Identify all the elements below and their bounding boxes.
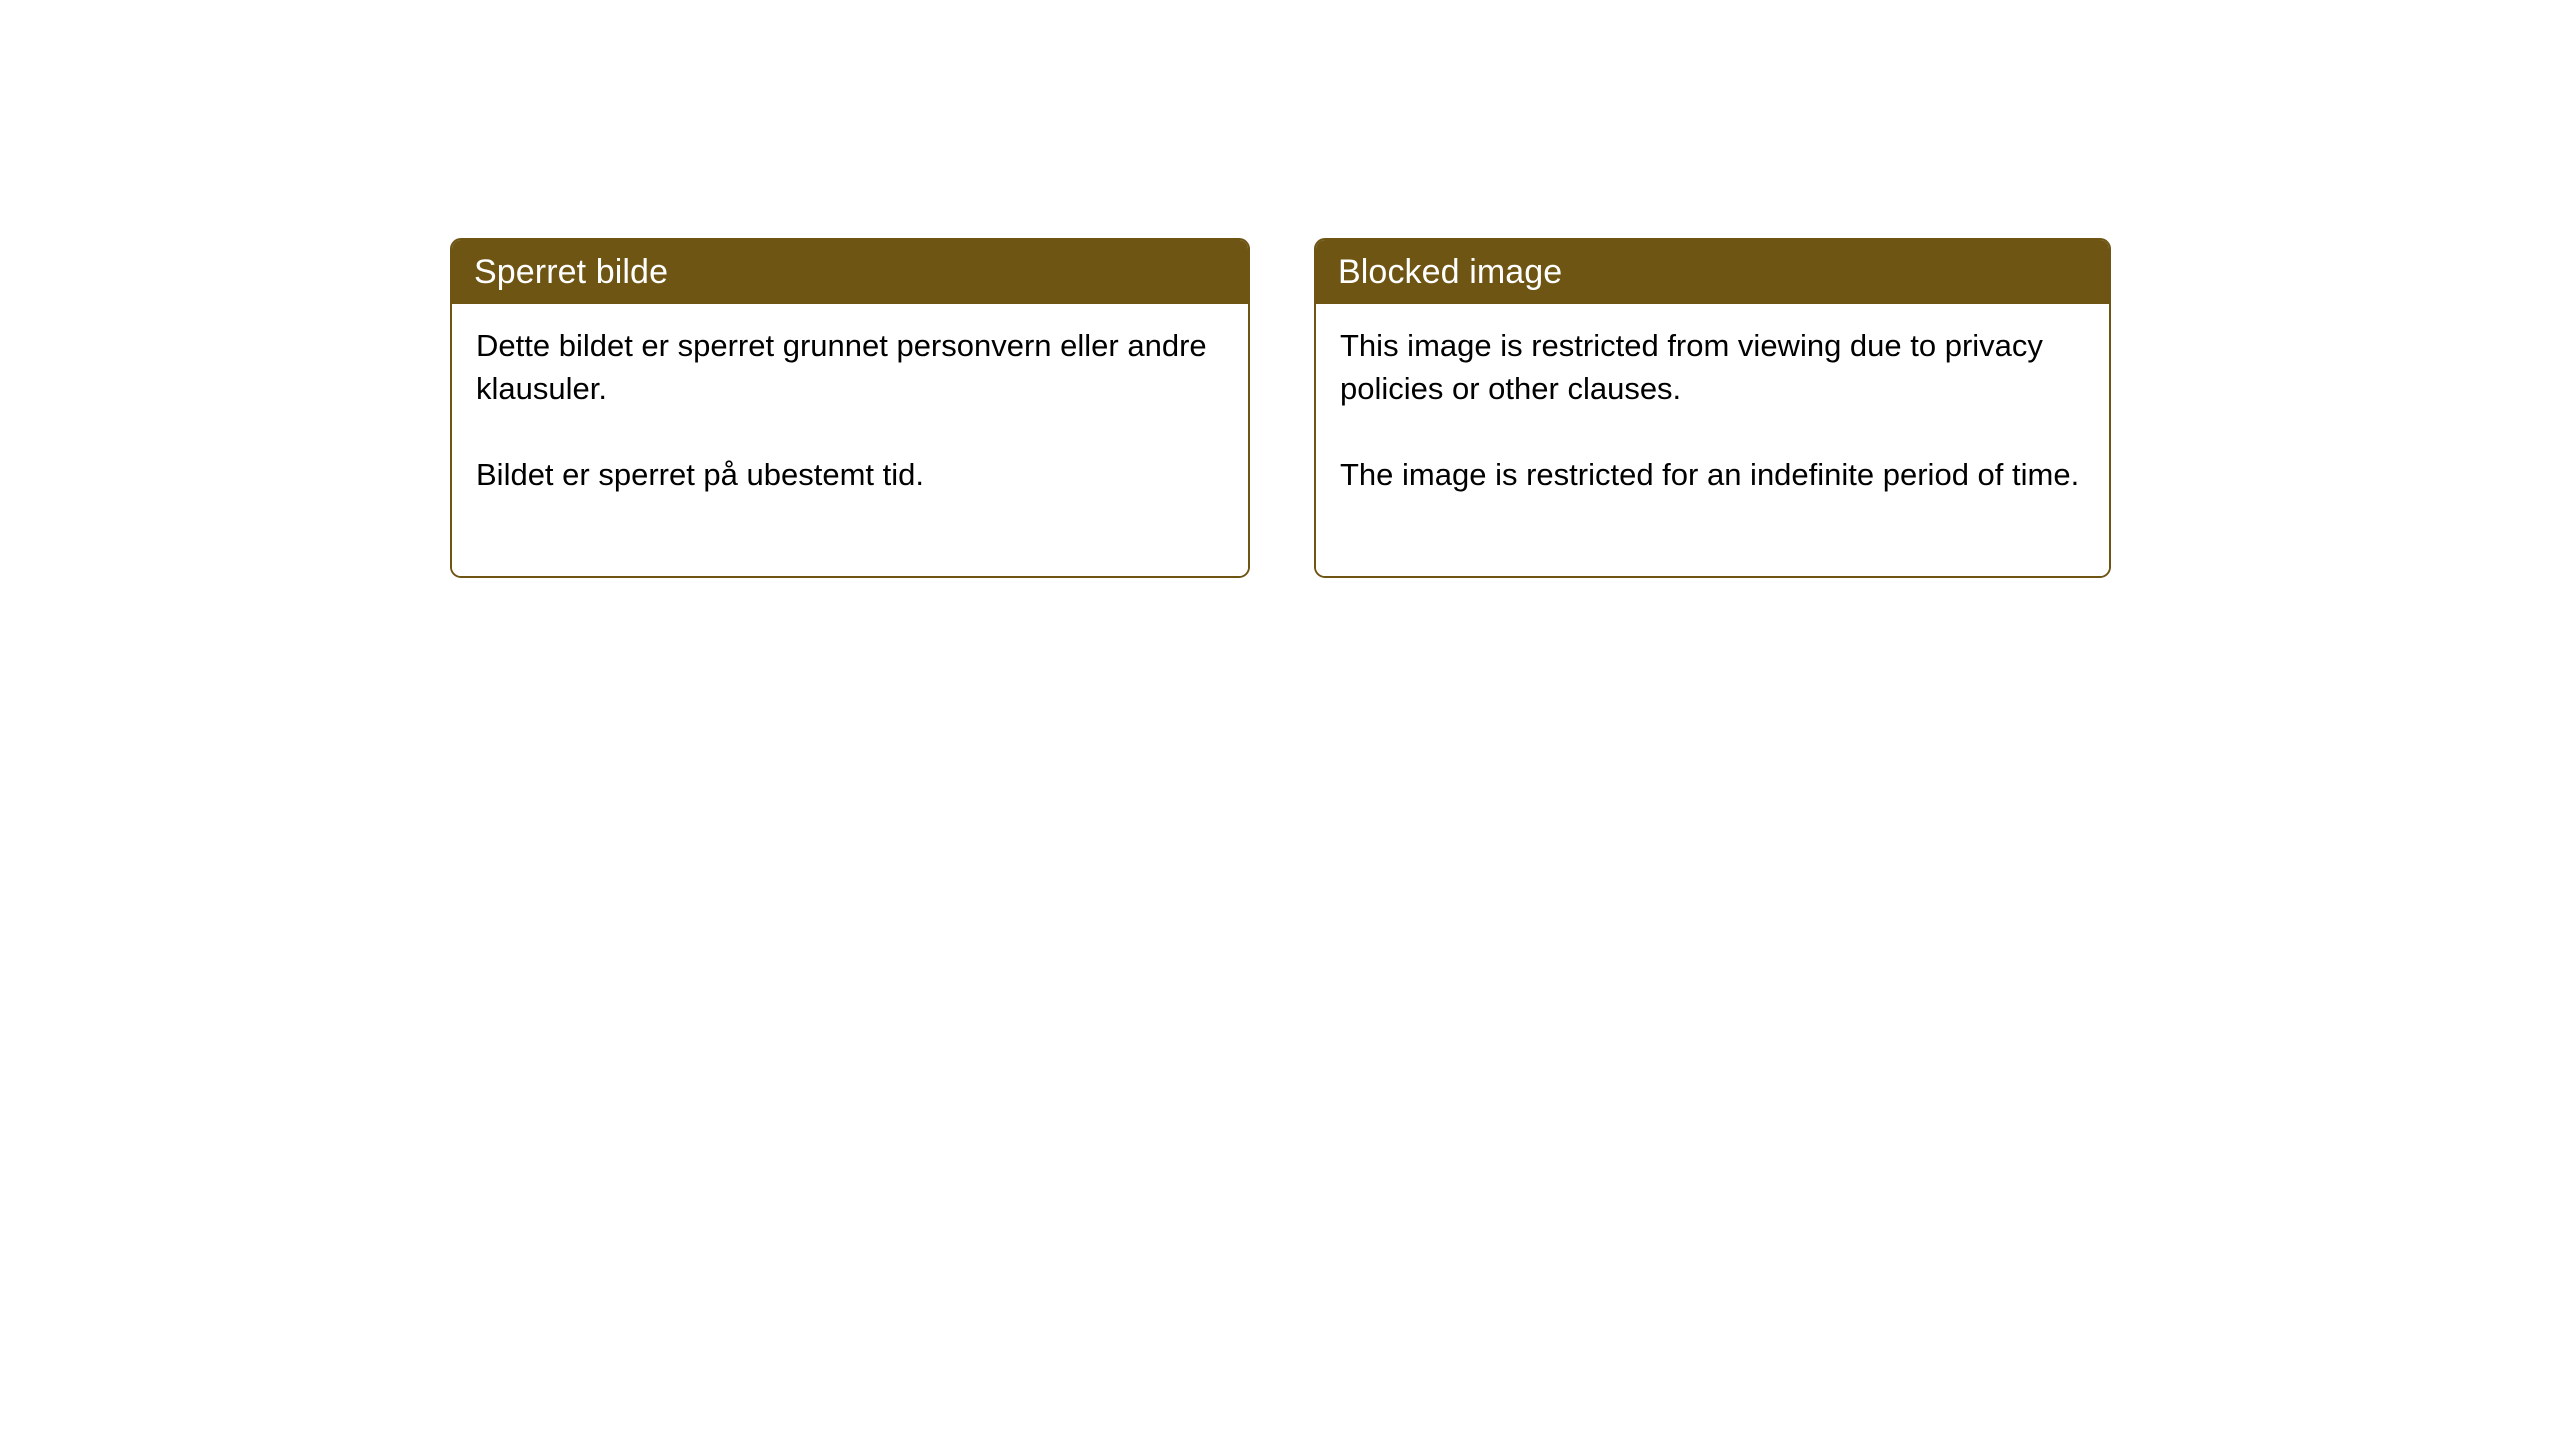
- card-body-norwegian: Dette bildet er sperret grunnet personve…: [452, 304, 1248, 576]
- card-paragraph-primary-english: This image is restricted from viewing du…: [1340, 324, 2083, 410]
- card-header-english: Blocked image: [1316, 240, 2109, 304]
- blocked-image-card-norwegian: Sperret bilde Dette bildet er sperret gr…: [450, 238, 1250, 578]
- card-title-norwegian: Sperret bilde: [474, 255, 668, 289]
- card-paragraph-secondary-english: The image is restricted for an indefinit…: [1340, 453, 2083, 496]
- card-header-norwegian: Sperret bilde: [452, 240, 1248, 304]
- card-body-english: This image is restricted from viewing du…: [1316, 304, 2109, 576]
- card-paragraph-secondary-norwegian: Bildet er sperret på ubestemt tid.: [476, 453, 1222, 496]
- blocked-image-notices: Sperret bilde Dette bildet er sperret gr…: [450, 238, 2111, 578]
- card-title-english: Blocked image: [1338, 255, 1562, 289]
- card-paragraph-primary-norwegian: Dette bildet er sperret grunnet personve…: [476, 324, 1222, 410]
- blocked-image-card-english: Blocked image This image is restricted f…: [1314, 238, 2111, 578]
